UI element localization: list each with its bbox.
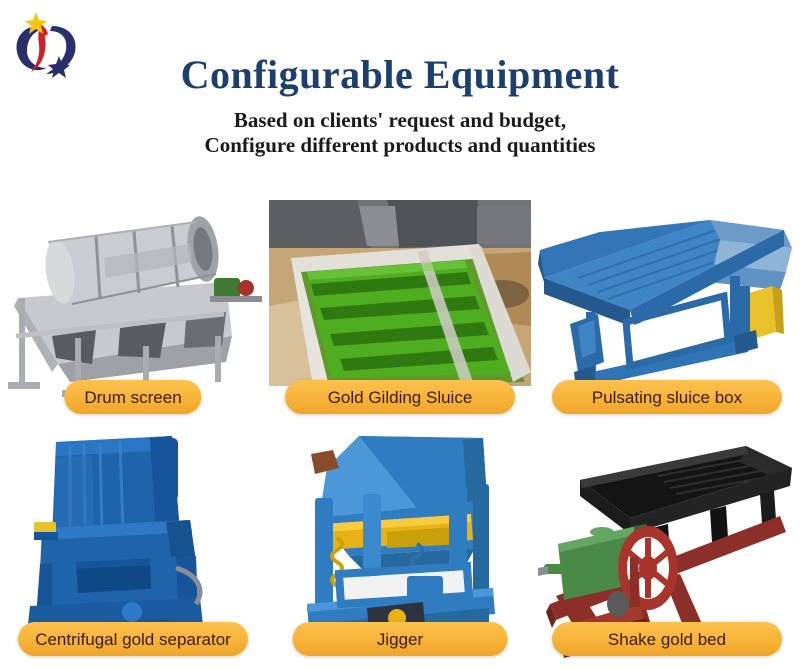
product-label-text: Centrifugal gold separator (35, 631, 231, 648)
page-title: Configurable Equipment (0, 52, 800, 98)
product-card-gold-gilding-sluice[interactable]: Gold Gilding Sluice (267, 186, 533, 428)
product-label-shake-gold-bed[interactable]: Shake gold bed (552, 622, 782, 656)
subtitle-line-2: Configure different products and quantit… (0, 133, 800, 158)
equipment-overview-page: Configurable Equipment Based on clients'… (0, 0, 800, 669)
product-label-text: Jigger (377, 631, 423, 648)
product-label-centrifugal-gold-separator[interactable]: Centrifugal gold separator (18, 622, 248, 656)
product-card-centrifugal-gold-separator[interactable]: Centrifugal gold separator (0, 428, 266, 670)
header: Configurable Equipment Based on clients'… (0, 52, 800, 158)
product-label-text: Drum screen (84, 389, 181, 406)
page-subtitle: Based on clients' request and budget, Co… (0, 108, 800, 158)
product-grid: Drum screen (0, 186, 800, 669)
product-card-shake-gold-bed[interactable]: Shake gold bed (534, 428, 800, 670)
product-label-text: Pulsating sluice box (592, 389, 742, 406)
subtitle-line-1: Based on clients' request and budget, (0, 108, 800, 133)
product-label-pulsating-sluice-box[interactable]: Pulsating sluice box (552, 380, 782, 414)
product-label-jigger[interactable]: Jigger (293, 622, 508, 656)
product-label-text: Gold Gilding Sluice (328, 389, 473, 406)
product-label-text: Shake gold bed (608, 631, 726, 648)
product-card-jigger[interactable]: Jigger (267, 428, 533, 670)
product-card-pulsating-sluice-box[interactable]: Pulsating sluice box (534, 186, 800, 428)
product-label-drum-screen[interactable]: Drum screen (64, 380, 201, 414)
product-card-drum-screen[interactable]: Drum screen (0, 186, 266, 428)
product-label-gold-gilding-sluice[interactable]: Gold Gilding Sluice (285, 380, 515, 414)
